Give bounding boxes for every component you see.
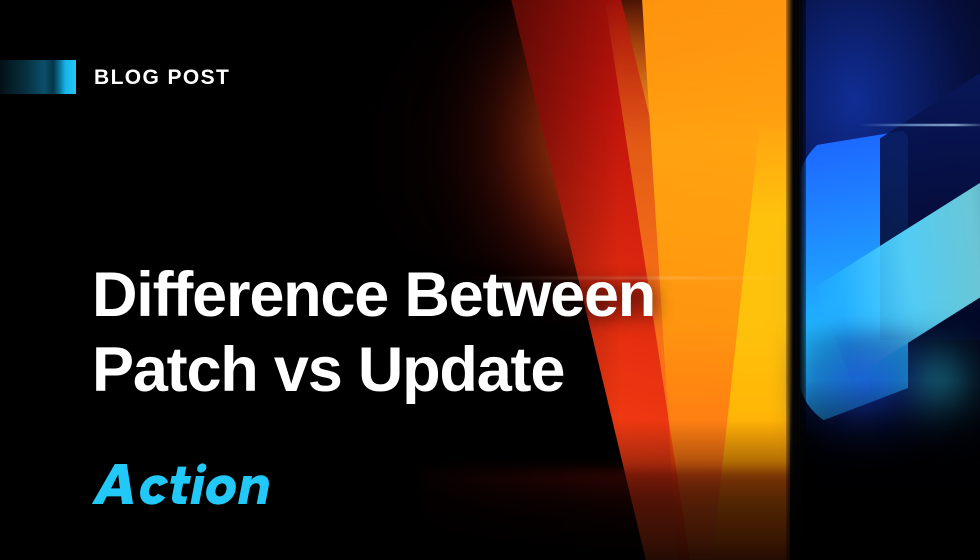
eyebrow: BLOG POST — [0, 60, 230, 94]
page-title: Difference Between Patch vs Update — [92, 258, 752, 407]
blog-post-banner: BLOG POST Difference Between Patch vs Up… — [0, 0, 980, 560]
eyebrow-label: BLOG POST — [94, 67, 230, 88]
gradient-bar-icon — [0, 60, 76, 94]
banner-content: BLOG POST Difference Between Patch vs Up… — [0, 0, 980, 560]
action1-logo[interactable] — [90, 458, 270, 512]
